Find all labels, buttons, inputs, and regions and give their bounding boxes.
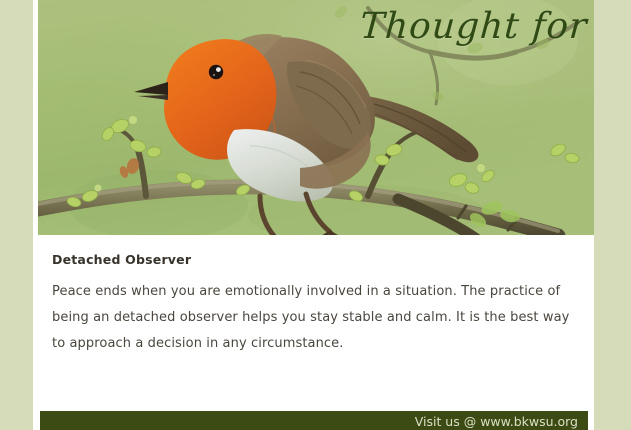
article-block: Detached Observer Peace ends when you ar… [52, 252, 572, 357]
footer-bar: Visit us @ www.bkwsu.org [40, 411, 588, 430]
hero-photo: Thought for Today [38, 0, 594, 235]
footer-visit-link[interactable]: Visit us @ www.bkwsu.org [415, 414, 578, 429]
hero-title: Thought for Today [359, 6, 594, 47]
article-body: Peace ends when you are emotionally invo… [52, 279, 572, 357]
newsletter-page: Thought for Today Detached Observer Peac… [0, 0, 631, 430]
article-heading: Detached Observer [52, 252, 572, 267]
